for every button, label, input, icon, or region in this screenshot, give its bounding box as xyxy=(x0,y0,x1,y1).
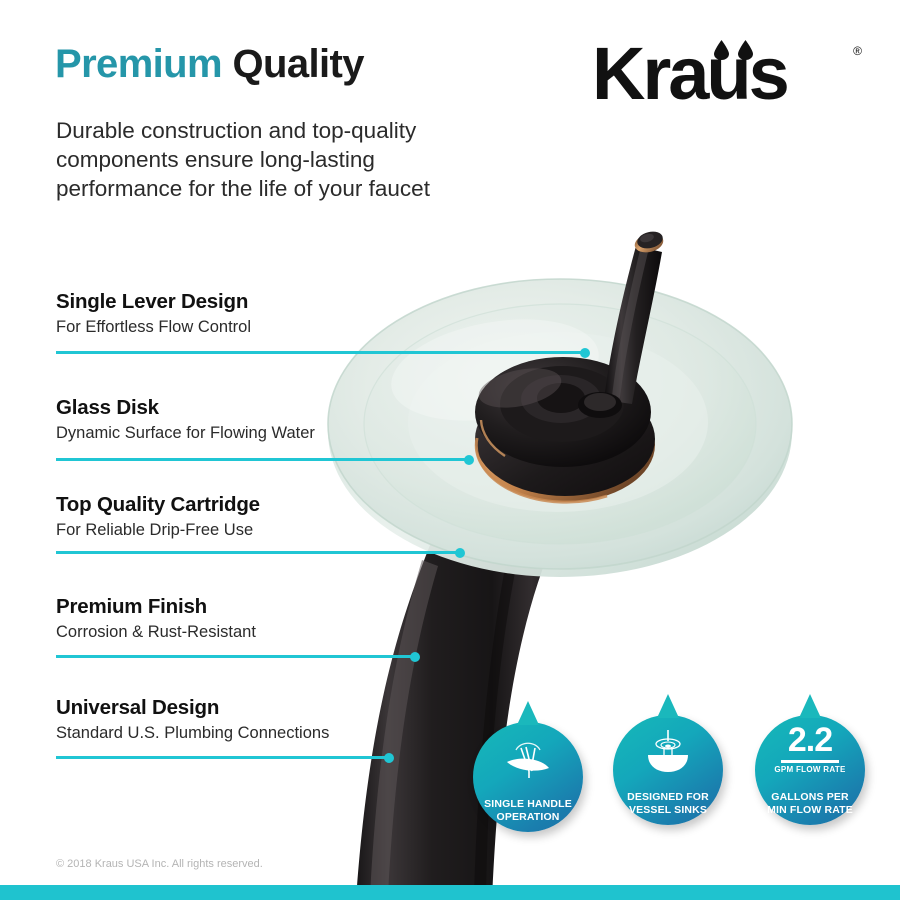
single-handle-faucet-icon xyxy=(499,735,557,781)
badge-label-line2: MIN FLOW RATE xyxy=(767,804,853,817)
badge-flow-rate: 2.2 GPM FLOW RATE GALLONS PER MIN FLOW R… xyxy=(755,715,865,825)
badge-pin-tail xyxy=(799,694,821,718)
leader-line-glass-disk xyxy=(56,458,470,461)
leader-line-premium-finish xyxy=(56,655,416,658)
leader-line-single-lever-design xyxy=(56,351,586,354)
leader-endpoint-dot xyxy=(580,348,590,358)
copyright-text: © 2018 Kraus USA Inc. All rights reserve… xyxy=(56,858,263,870)
leader-line-universal-design xyxy=(56,756,390,759)
leader-endpoint-dot xyxy=(464,455,474,465)
leader-endpoint-dot xyxy=(410,652,420,662)
badge-label-line1: SINGLE HANDLE xyxy=(484,798,572,811)
infographic-canvas: Premium Quality Durable construction and… xyxy=(0,0,900,900)
badge-label: GALLONS PER MIN FLOW RATE xyxy=(767,791,853,816)
footer-accent-bar xyxy=(0,885,900,900)
badge-single-handle-operation: SINGLE HANDLE OPERATION xyxy=(473,722,583,832)
flow-rate-value: 2.2 xyxy=(755,723,865,757)
badge-label: SINGLE HANDLE OPERATION xyxy=(484,798,572,823)
badge-label: DESIGNED FOR VESSEL SINKS xyxy=(627,791,709,816)
leader-endpoint-dot xyxy=(455,548,465,558)
leader-line-top-quality-cartridge xyxy=(56,551,461,554)
vessel-sink-icon xyxy=(639,728,697,774)
badge-label-line2: OPERATION xyxy=(484,811,572,824)
badge-label-line1: DESIGNED FOR xyxy=(627,791,709,804)
flow-rate-unit: GPM FLOW RATE xyxy=(755,765,865,774)
badge-label-line2: VESSEL SINKS xyxy=(627,804,709,817)
leader-endpoint-dot xyxy=(384,753,394,763)
badge-pin-tail xyxy=(517,701,539,725)
badge-designed-for-vessel-sinks: DESIGNED FOR VESSEL SINKS xyxy=(613,715,723,825)
badge-label-line1: GALLONS PER xyxy=(767,791,853,804)
flow-rate-divider xyxy=(781,760,839,763)
badge-pin-tail xyxy=(657,694,679,718)
